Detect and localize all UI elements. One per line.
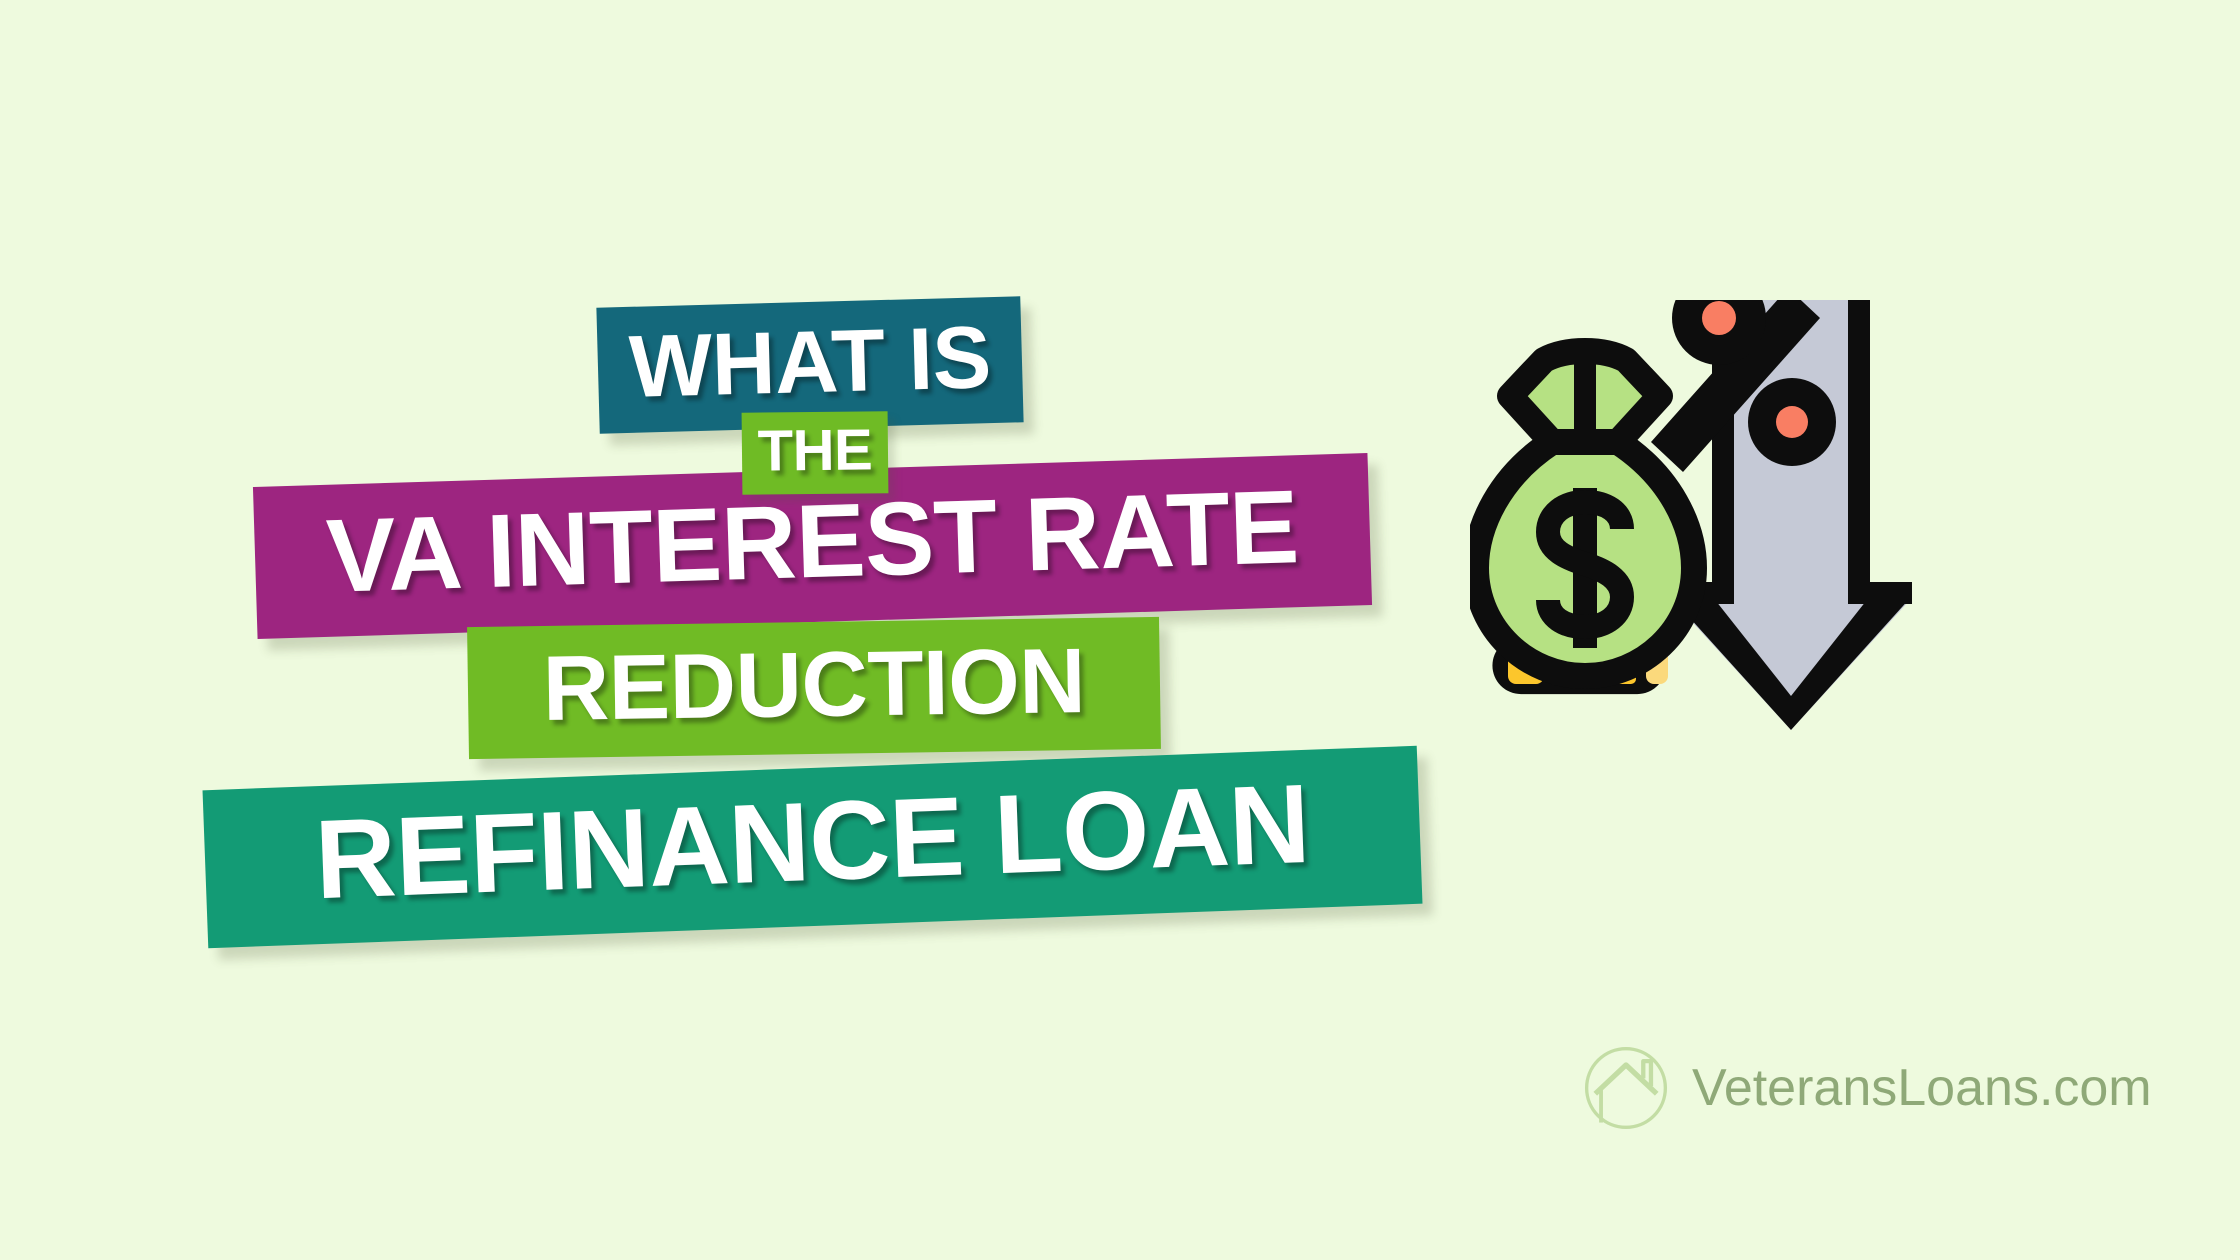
headline-text-refinance-loan: REFINANCE LOAN (313, 768, 1311, 916)
poster-canvas: WHAT IS THE VA INTEREST RATE REDUCTION R… (0, 0, 2240, 1260)
money-bag-icon (1476, 351, 1694, 676)
headline-text-what-is: WHAT IS (628, 313, 992, 411)
headline-text-the: THE (757, 421, 872, 480)
percent-dot-upper (1702, 301, 1736, 335)
headline-text-va-interest-rate: VA INTEREST RATE (325, 475, 1300, 609)
down-arrow-icon (1670, 300, 1912, 730)
logo-wordmark: VeteransLoans.com (1692, 1058, 2152, 1118)
money-bag-coins-percent-arrow-illustration (1470, 300, 2150, 980)
veteransloans-logo[interactable]: VeteransLoans.com (1578, 1040, 2152, 1136)
headline-text-reduction: REDUCTION (542, 635, 1086, 735)
headline-banner-the: THE (742, 411, 889, 495)
headline-banner-refinance-loan: REFINANCE LOAN (203, 746, 1423, 948)
headline-banner-reduction: REDUCTION (467, 617, 1161, 759)
percent-dot-lower (1776, 406, 1808, 438)
house-in-circle-logo-icon (1578, 1040, 1674, 1136)
